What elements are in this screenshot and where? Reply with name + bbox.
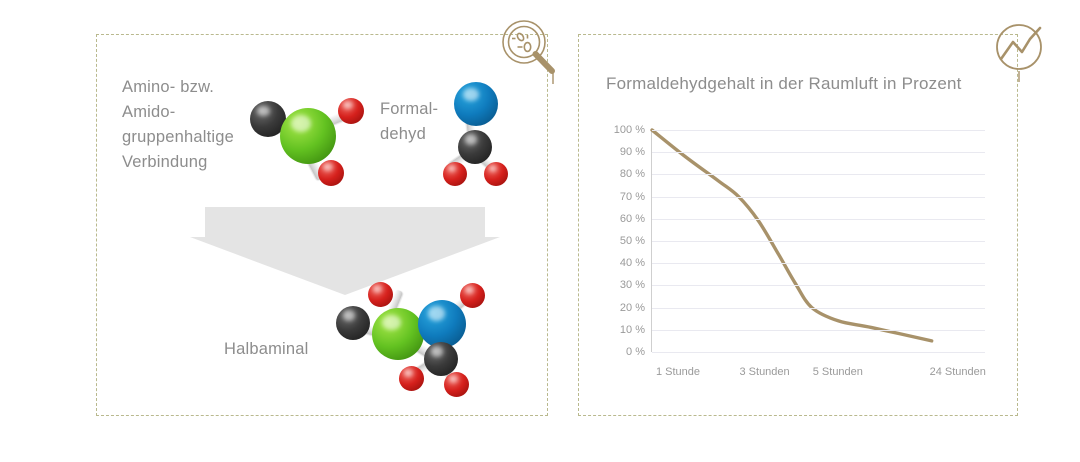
carbon-atom (336, 306, 370, 340)
halbaminal-molecule (330, 278, 500, 400)
x-axis-tick-label: 5 Stunden (813, 366, 863, 378)
y-axis-tick-label: 0 % (626, 346, 645, 358)
gridline (652, 308, 985, 309)
y-axis-tick-label: 60 % (620, 213, 645, 225)
y-axis-tick-label: 10 % (620, 324, 645, 336)
y-axis-tick-label: 80 % (620, 168, 645, 180)
gridline (652, 219, 985, 220)
trend-chart-icon (986, 14, 1060, 88)
oxygen-atom (399, 366, 424, 391)
x-axis-tick-label: 24 Stunden (930, 366, 986, 378)
oxygen-atom (460, 283, 485, 308)
rest-group-atom (280, 108, 336, 164)
gridline (652, 130, 985, 131)
oxygen-atom (443, 162, 467, 186)
gridline (652, 152, 985, 153)
nitrogen-atom (418, 300, 466, 348)
x-axis-tick-label: 1 Stunde (656, 366, 700, 378)
oxygen-atom (484, 162, 508, 186)
gridline (652, 174, 985, 175)
x-axis-tick-label: 3 Stunden (740, 366, 790, 378)
y-axis-tick-label: 90 % (620, 146, 645, 158)
amino-compound-molecule (240, 88, 370, 188)
oxygen-atom (338, 98, 364, 124)
carbon-atom (424, 342, 458, 376)
rest-group-atom (372, 308, 424, 360)
curve-path (652, 130, 932, 341)
gridline (652, 197, 985, 198)
formaldehyde-molecule (440, 78, 526, 178)
nitrogen-atom (454, 82, 498, 126)
oxygen-atom (444, 372, 469, 397)
oxygen-atom (318, 160, 344, 186)
y-axis-tick-label: 30 % (620, 279, 645, 291)
y-axis-tick-label: 20 % (620, 302, 645, 314)
y-axis-tick-label: 50 % (620, 235, 645, 247)
chart-title: Formaldehydgehalt in der Raumluft in Pro… (606, 74, 962, 94)
y-axis-tick-label: 100 % (614, 124, 645, 136)
carbon-atom (458, 130, 492, 164)
gridline (652, 330, 985, 331)
gridline (652, 285, 985, 286)
y-axis-tick-label: 40 % (620, 257, 645, 269)
plot-area: 100 %90 %80 %70 %60 %50 %40 %30 %20 %10 … (651, 130, 985, 352)
gridline (652, 352, 985, 353)
magnifier-molecule-icon (496, 14, 570, 88)
gridline (652, 241, 985, 242)
gridline (652, 263, 985, 264)
y-axis-tick-label: 70 % (620, 191, 645, 203)
oxygen-atom (368, 282, 393, 307)
line-chart: 100 %90 %80 %70 %60 %50 %40 %30 %20 %10 … (604, 122, 994, 387)
